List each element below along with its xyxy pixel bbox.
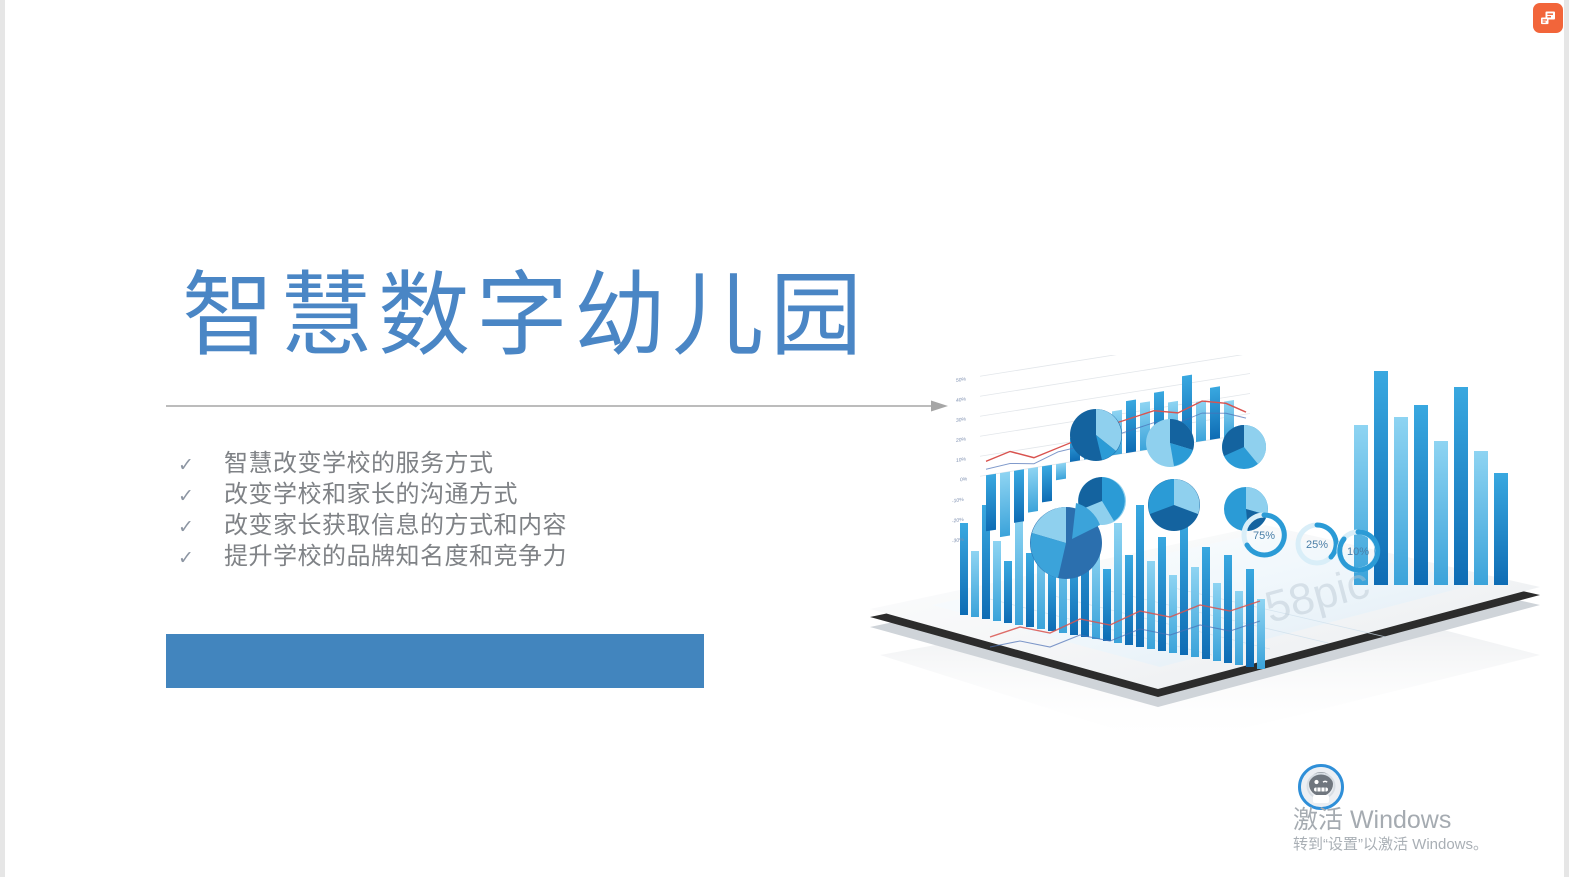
assistant-avatar[interactable] (1298, 764, 1344, 810)
svg-text:50%: 50% (956, 376, 967, 384)
list-item: ✓ 改变学校和家长的沟通方式 (178, 474, 738, 505)
page-title: 智慧数字幼儿园 (182, 268, 868, 365)
windows-activation-watermark: 激活 Windows 转到“设置”以激活 Windows。 (1293, 805, 1553, 855)
svg-text:10%: 10% (956, 456, 967, 464)
svg-text:-10%: -10% (952, 497, 964, 505)
powerpoint-icon[interactable] (1533, 3, 1563, 33)
watermark-subtitle: 转到“设置”以激活 Windows。 (1293, 835, 1553, 855)
check-icon: ✓ (178, 516, 224, 538)
svg-text:20%: 20% (956, 436, 967, 444)
svg-text:30%: 30% (956, 416, 967, 424)
subtitle-band (166, 634, 704, 688)
arrow-divider (166, 399, 948, 413)
check-icon: ✓ (178, 485, 224, 507)
watermark-title: 激活 Windows (1293, 805, 1553, 835)
list-item: ✓ 智慧改变学校的服务方式 (178, 443, 738, 474)
svg-text:40%: 40% (956, 396, 967, 404)
gauge-label-75: 75% (1253, 530, 1275, 542)
tablet-analytics-illustration: 50% 40% 30% 20% 10% 0% -10% -20% -30% (840, 355, 1560, 775)
check-icon: ✓ (178, 454, 224, 476)
list-item-label: 改变家长获取信息的方式和内容 (224, 505, 567, 540)
check-icon: ✓ (178, 547, 224, 569)
slide-left-edge (0, 0, 5, 877)
list-item: ✓ 改变家长获取信息的方式和内容 (178, 505, 738, 536)
list-item-label: 改变学校和家长的沟通方式 (224, 474, 518, 509)
gauge-label-25: 25% (1306, 539, 1328, 551)
slide-right-edge (1564, 0, 1569, 877)
gauge-label-10: 10% (1347, 546, 1369, 558)
svg-text:0%: 0% (960, 476, 968, 483)
list-item-label: 提升学校的品牌知名度和竞争力 (224, 536, 567, 571)
list-item-label: 智慧改变学校的服务方式 (224, 443, 494, 478)
presentation-slide: 智慧数字幼儿园 ✓ 智慧改变学校的服务方式 ✓ 改变学校和家长的沟通方式 ✓ 改… (0, 0, 1569, 877)
list-item: ✓ 提升学校的品牌知名度和竞争力 (178, 536, 738, 567)
bullet-list: ✓ 智慧改变学校的服务方式 ✓ 改变学校和家长的沟通方式 ✓ 改变家长获取信息的… (178, 443, 738, 567)
